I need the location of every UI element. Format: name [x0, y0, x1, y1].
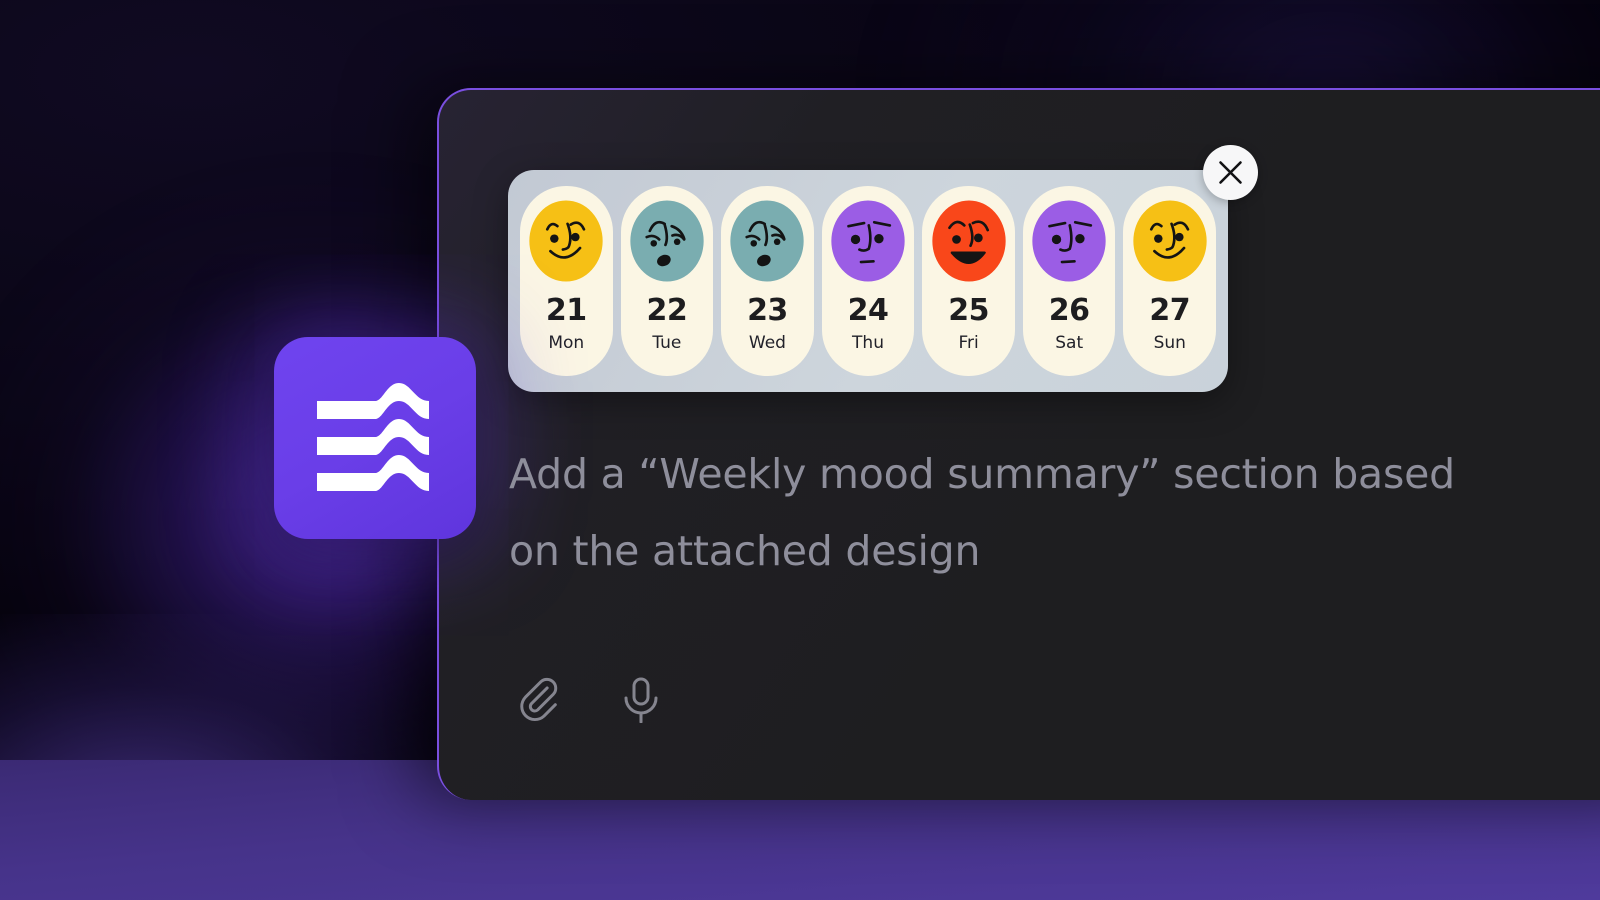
app-logo — [274, 337, 476, 539]
mood-face-neutral-icon — [829, 198, 907, 284]
day-number: 22 — [646, 296, 687, 326]
voice-input-button[interactable] — [610, 668, 672, 730]
day-weekday: Thu — [852, 335, 884, 352]
day-number: 21 — [546, 296, 587, 326]
mood-face-sad-icon — [728, 198, 806, 284]
mood-face-excited-icon — [930, 198, 1008, 284]
mood-face-happy — [1131, 198, 1209, 284]
close-attachment-button[interactable] — [1203, 145, 1258, 200]
composer-toolbar — [509, 668, 672, 730]
day-number: 25 — [948, 296, 989, 326]
day-weekday: Tue — [652, 335, 681, 352]
day-weekday: Sat — [1055, 335, 1083, 352]
day-number: 26 — [1049, 296, 1090, 326]
day-weekday: Sun — [1154, 335, 1186, 352]
mood-day-pill[interactable]: 24Thu — [822, 186, 915, 376]
mood-face-sad — [628, 198, 706, 284]
mood-face-sad — [728, 198, 806, 284]
mood-day-pill[interactable]: 22Tue — [621, 186, 714, 376]
mood-day-pill[interactable]: 27Sun — [1123, 186, 1216, 376]
mood-face-happy-icon — [1131, 198, 1209, 284]
prompt-text[interactable]: Add a “Weekly mood summary” section base… — [509, 436, 1489, 590]
mood-face-neutral-icon — [1030, 198, 1108, 284]
weekly-mood-summary-attachment[interactable]: 21Mon22Tue23Wed24Thu25Fri26Sat27Sun — [508, 170, 1228, 392]
close-icon — [1216, 158, 1245, 187]
mood-face-neutral — [829, 198, 907, 284]
mood-face-happy — [527, 198, 605, 284]
day-weekday: Wed — [749, 335, 786, 352]
day-weekday: Fri — [958, 335, 978, 352]
attach-file-button[interactable] — [509, 668, 571, 730]
mood-face-neutral — [1030, 198, 1108, 284]
mood-day-pill[interactable]: 23Wed — [721, 186, 814, 376]
mood-day-pill[interactable]: 25Fri — [922, 186, 1015, 376]
mood-face-happy-icon — [527, 198, 605, 284]
screen: 21Mon22Tue23Wed24Thu25Fri26Sat27Sun Add … — [0, 0, 1600, 900]
microphone-icon — [619, 675, 663, 723]
day-number: 27 — [1149, 296, 1190, 326]
mood-face-sad-icon — [628, 198, 706, 284]
mood-day-pill[interactable]: 26Sat — [1023, 186, 1116, 376]
mood-day-pill[interactable]: 21Mon — [520, 186, 613, 376]
day-number: 24 — [848, 296, 889, 326]
day-weekday: Mon — [548, 335, 584, 352]
day-number: 23 — [747, 296, 788, 326]
paperclip-icon — [517, 676, 563, 722]
wave-lines-logo-icon — [313, 379, 437, 497]
mood-face-excited — [930, 198, 1008, 284]
